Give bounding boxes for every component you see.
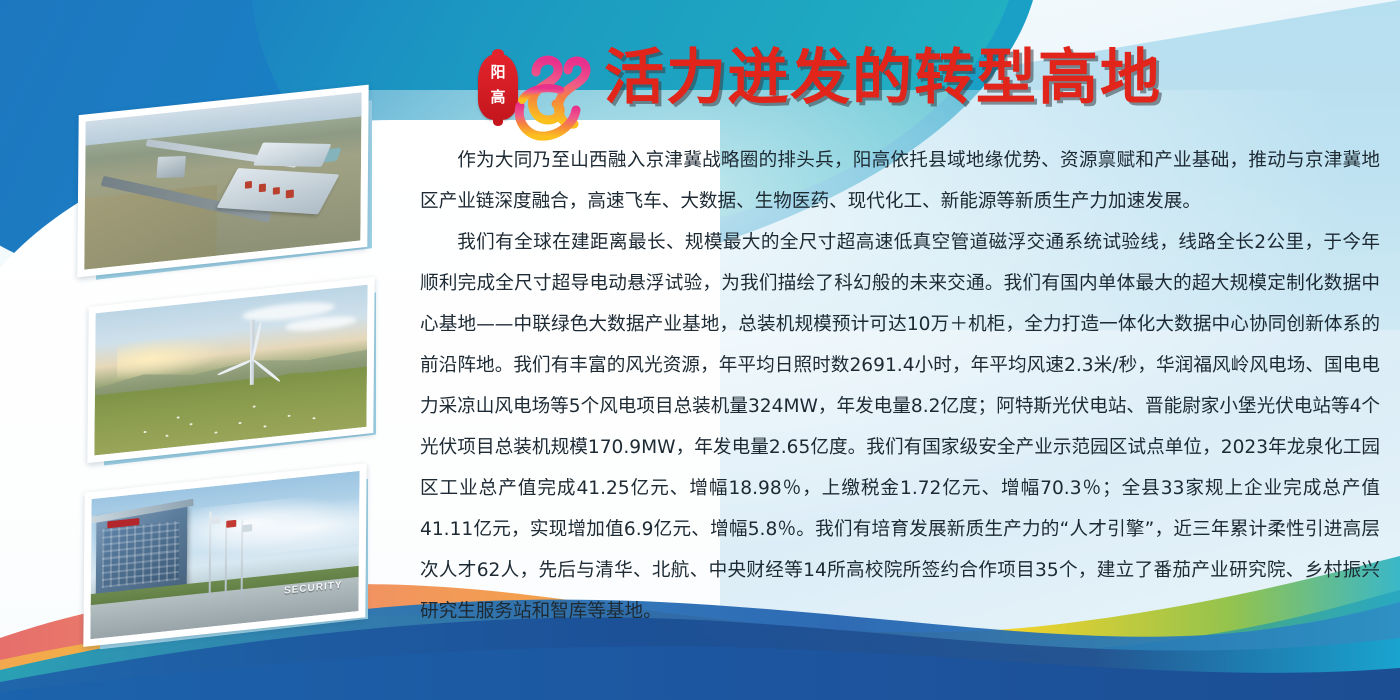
article-body: 作为大同乃至山西融入京津冀战略圈的排头兵，阳高依托县域地缘优势、资源禀赋和产业基… <box>420 140 1380 632</box>
photo-security-campus[interactable]: SECURITY <box>83 463 366 647</box>
industrial-park-image <box>84 92 361 269</box>
security-campus-image: SECURITY <box>90 471 359 639</box>
paragraph-2: 我们有全球在建距离最长、规模最大的全尺寸超高速低真空管道磁浮交通系统试验线，线路… <box>420 222 1380 632</box>
paragraph-1: 作为大同乃至山西融入京津冀战略圈的排头兵，阳高依托县域地缘优势、资源禀赋和产业基… <box>420 140 1380 222</box>
wind-farm-image <box>94 285 367 456</box>
photo-3-frame: SECURITY <box>90 471 359 639</box>
ribbon-swirl-icon <box>506 46 594 146</box>
page-title: 活力迸发的转型高地 <box>604 48 1162 108</box>
photo-strip: SECURITY <box>0 0 400 700</box>
poster-canvas: SECURITY 阳 高 <box>0 0 1400 700</box>
photo-1-frame <box>84 92 361 269</box>
photo-industrial-park[interactable] <box>77 85 368 278</box>
photo-2-frame <box>94 285 367 456</box>
photo-wind-farm[interactable] <box>87 277 374 463</box>
yanggao-emblem: 阳 高 <box>474 44 592 148</box>
